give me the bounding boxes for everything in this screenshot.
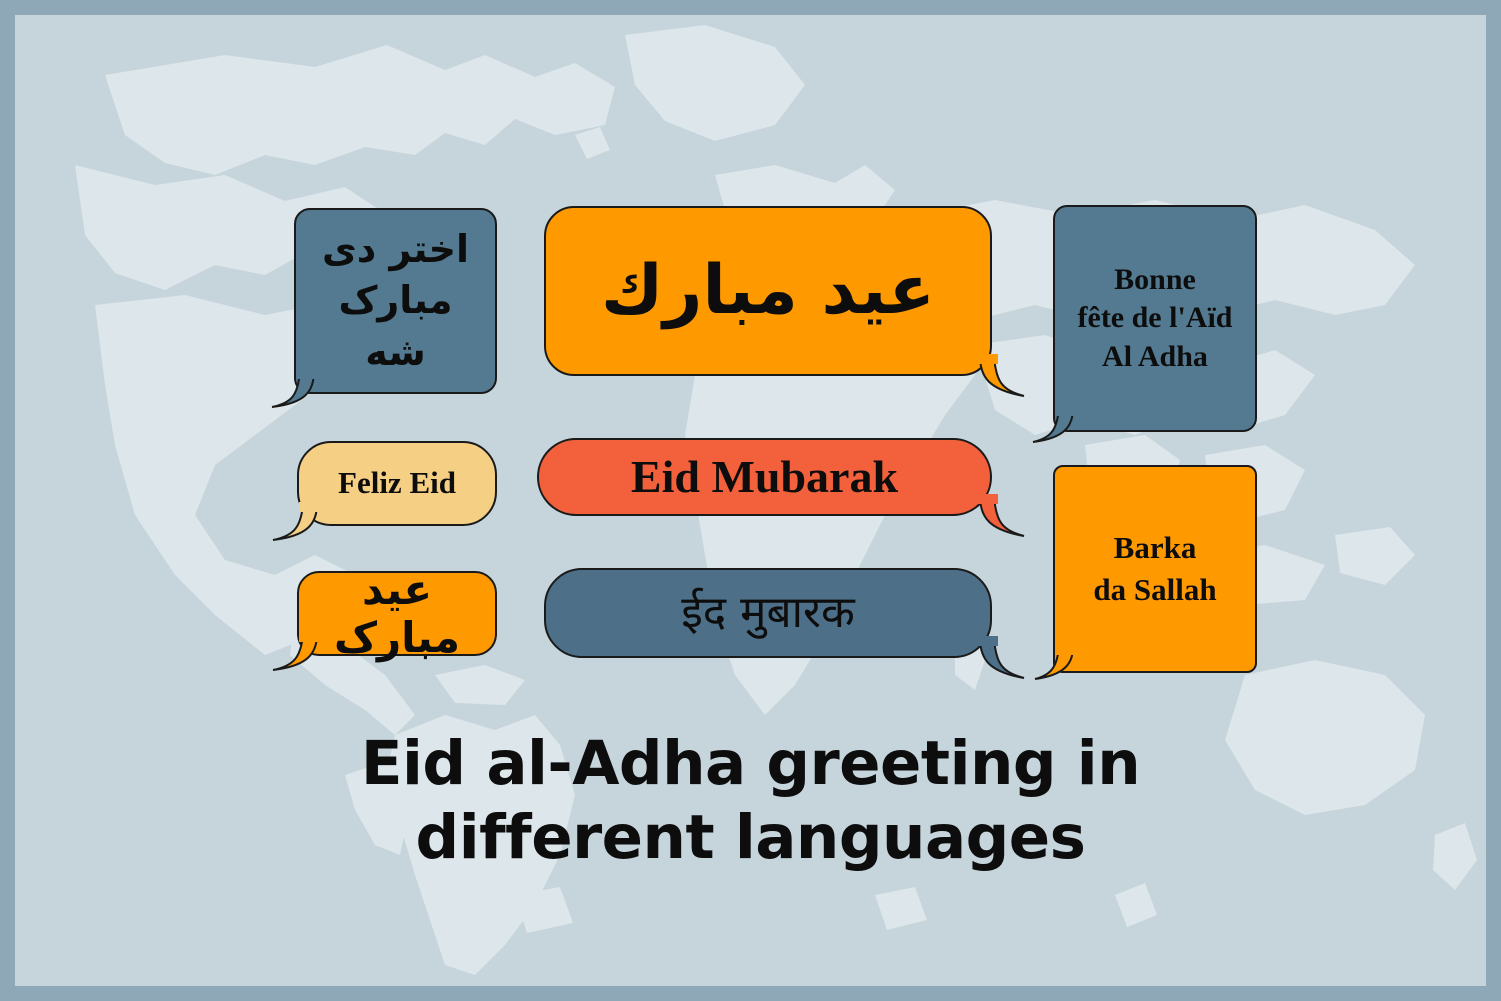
bubble-arabic-tail: [974, 354, 1020, 394]
bubble-hausa-text: Barka da Sallah: [1083, 527, 1226, 611]
bubble-hindi[interactable]: ईद मुबारक: [544, 568, 992, 658]
bubble-pashto-tail: [270, 369, 316, 409]
bubble-english[interactable]: Eid Mubarak: [537, 438, 992, 516]
bubble-english-tail: [974, 494, 1020, 534]
page-title: Eid al-Adha greeting in different langua…: [15, 727, 1486, 876]
bubble-spanish-text: Feliz Eid: [328, 466, 466, 501]
bubble-arabic[interactable]: عيد مبارك: [544, 206, 992, 376]
bubble-hausa-tail: [1033, 645, 1079, 685]
bubble-spanish-tail: [271, 502, 317, 542]
bubble-spanish[interactable]: Feliz Eid: [297, 441, 497, 526]
bubble-french-tail: [1031, 406, 1077, 446]
bubble-pashto[interactable]: اختر دی مبارک شه: [294, 208, 497, 394]
bubble-hausa[interactable]: Barka da Sallah: [1053, 465, 1257, 673]
bubble-arabic-text: عيد مبارك: [591, 253, 945, 329]
bubble-hindi-tail: [974, 636, 1020, 676]
bubble-pashto-text: اختر دی مبارک شه: [296, 224, 495, 378]
bubble-urdu[interactable]: عید مبارک: [297, 571, 497, 656]
bubble-english-text: Eid Mubarak: [621, 451, 908, 503]
bubble-french-text: Bonne fête de l'Aïd Al Adha: [1068, 261, 1243, 376]
bubble-urdu-text: عید مبارک: [299, 566, 495, 660]
poster: اختر دی مبارک شه عيد مبارك: [0, 0, 1501, 1001]
bubble-urdu-tail: [271, 632, 317, 672]
bubble-hindi-text: ईद मुबारक: [671, 588, 865, 637]
bubble-french[interactable]: Bonne fête de l'Aïd Al Adha: [1053, 205, 1257, 432]
poster-canvas: اختر دی مبارک شه عيد مبارك: [15, 15, 1486, 986]
